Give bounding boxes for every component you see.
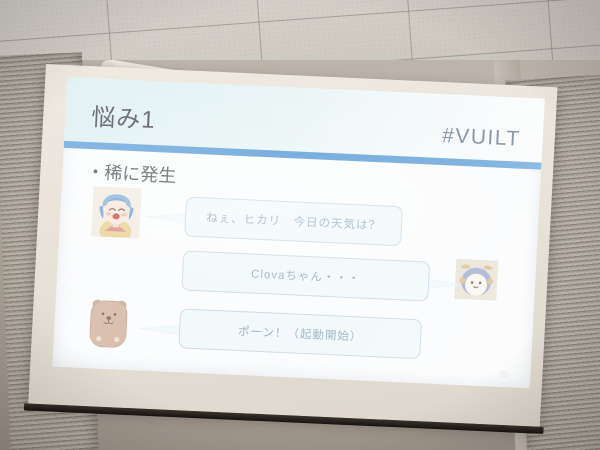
- avatar-hikari: [91, 186, 142, 238]
- photo-scene: 悩み1 #VUILT ・稀に発生: [0, 0, 600, 450]
- slide-page-number: 25: [499, 370, 508, 379]
- bubble-tail-3: [140, 324, 180, 336]
- bubble-tail-1: [146, 212, 186, 224]
- avatar-hikari-art: [91, 186, 142, 238]
- bubble-tail-2: [427, 279, 461, 291]
- conversation-diagram: ねぇ、ヒカリ 今日の天気は？ Clovaちゃん・・・ ポーン！（起動開始）: [52, 77, 545, 388]
- speech-bubble-3: ポーン！（起動開始）: [178, 308, 422, 359]
- projection-screen: 悩み1 #VUILT ・稀に発生: [28, 64, 557, 427]
- presentation-slide: 悩み1 #VUILT ・稀に発生: [52, 77, 545, 388]
- avatar-speaker-bear-art: [83, 293, 134, 351]
- speech-bubble-1: ねぇ、ヒカリ 今日の天気は？: [184, 196, 403, 246]
- avatar-speaker-bear: [83, 293, 134, 351]
- speech-bubble-2: Clovaちゃん・・・: [181, 250, 430, 301]
